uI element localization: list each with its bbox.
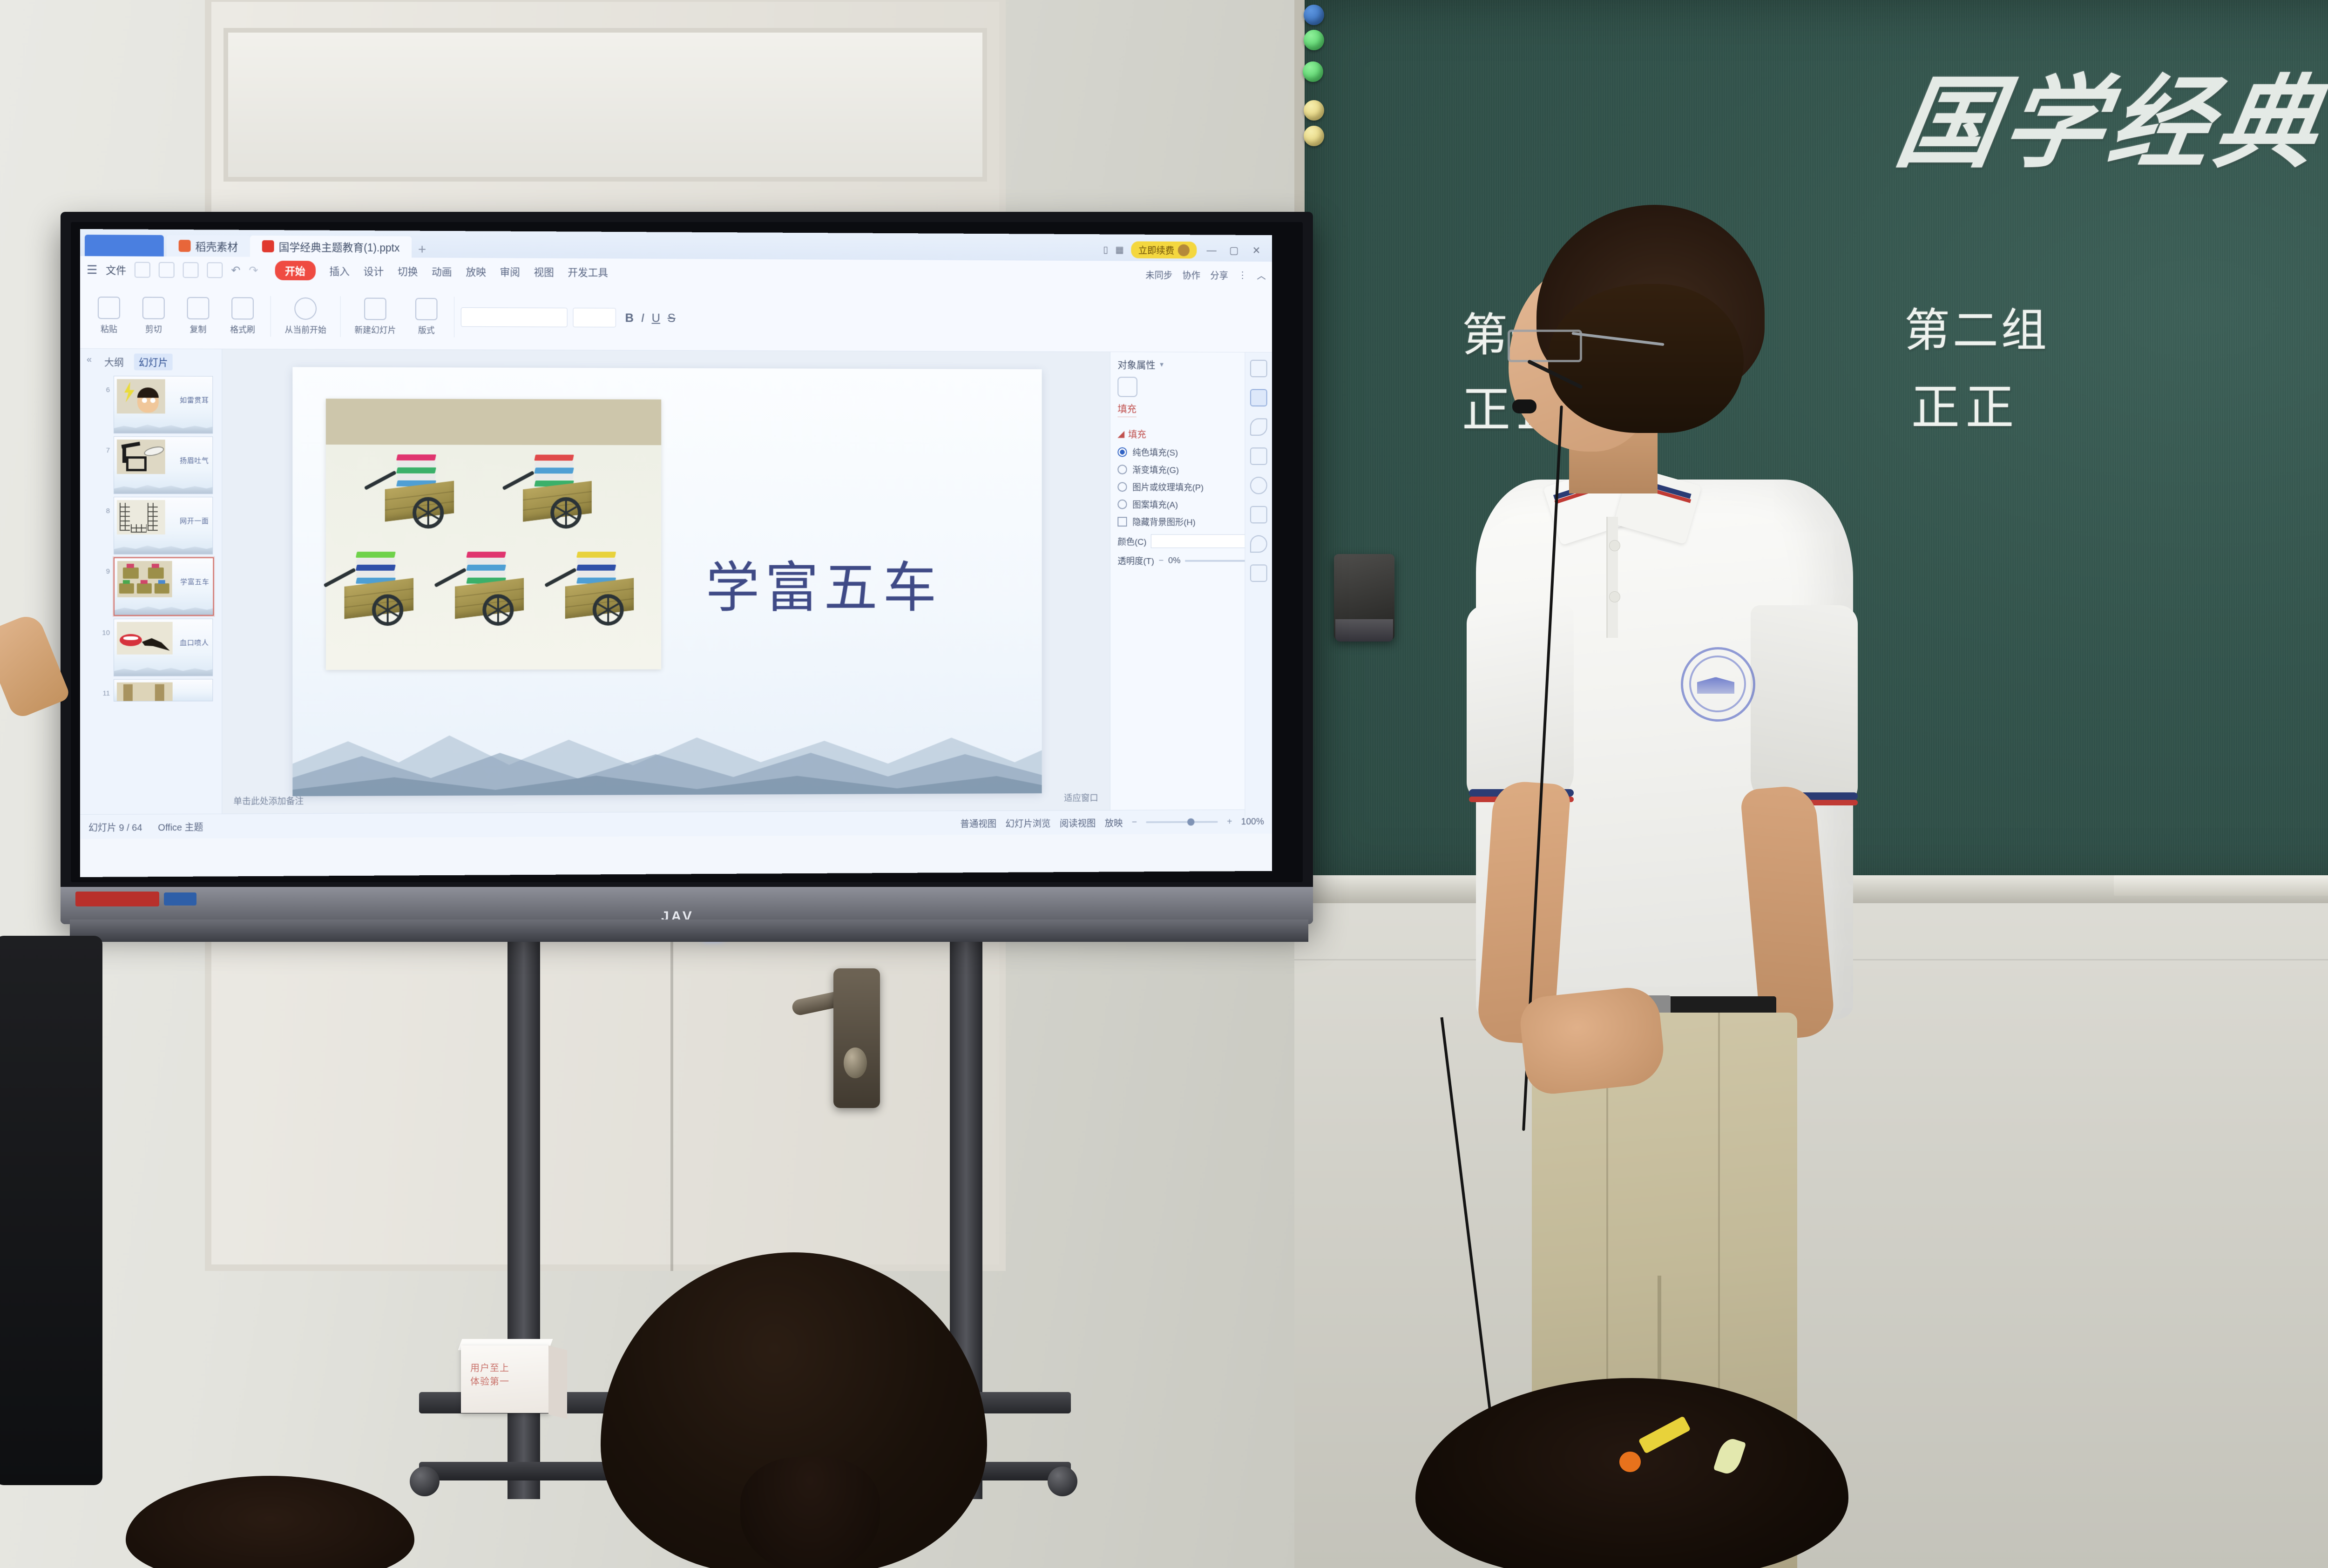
renew-label: 立即续费 <box>1138 243 1174 257</box>
ribbon-separator-2 <box>340 296 341 337</box>
fill-option-picture[interactable]: 图片或纹理填充(P) <box>1117 481 1265 493</box>
font-size-select[interactable] <box>573 308 616 327</box>
book-stack <box>356 552 396 585</box>
book-cart-3 <box>336 552 415 621</box>
fill-color-swatch[interactable] <box>1151 534 1256 548</box>
slide-counter: 幻灯片 9 / 64 <box>88 820 142 833</box>
pane-dropdown-icon[interactable]: ▾ <box>1160 360 1164 369</box>
file-menu-button[interactable]: 文件 <box>106 262 126 277</box>
thumbnail-art-lightning <box>117 379 165 413</box>
copy-label: 复制 <box>190 323 207 335</box>
group-2-label: 第二组 <box>1904 293 2050 359</box>
glasses-lens <box>1508 330 1582 362</box>
wps-status-bar: 幻灯片 9 / 64 Office 主题 普通视图 幻灯片浏览 阅读视图 放映 … <box>80 809 1272 839</box>
collaborate-button[interactable]: 协作 <box>1182 268 1200 281</box>
wps-home-tab[interactable] <box>85 235 164 257</box>
ribbon-tab-slideshow[interactable]: 放映 <box>466 264 486 279</box>
format-painter-icon <box>231 297 254 319</box>
display-lower-chin <box>70 919 1308 942</box>
door-transom-window <box>223 28 987 182</box>
tab-docer[interactable]: 稻壳素材 <box>167 235 250 257</box>
thumbnail-9-selected[interactable]: 学富五车 <box>114 557 214 616</box>
print-icon[interactable] <box>159 262 175 278</box>
display-label-blue <box>164 892 196 906</box>
fit-window-button[interactable]: 适应窗口 <box>1064 791 1098 804</box>
fill-color-field[interactable]: 颜色(C) ▾ <box>1117 534 1265 548</box>
new-slide-icon <box>364 297 386 320</box>
cut-label: 剪切 <box>145 323 162 335</box>
pane-group-label: 填充 <box>1128 427 1146 441</box>
microphone-capsule <box>1512 399 1536 413</box>
fill-option-label: 图案填充(A) <box>1132 498 1178 511</box>
door-lock-cylinder[interactable] <box>844 1048 867 1078</box>
renew-button[interactable]: 立即续费 <box>1131 241 1197 258</box>
maximize-button[interactable]: ▢ <box>1226 244 1242 257</box>
thumbnail-7[interactable]: 扬眉吐气 <box>114 436 213 494</box>
teacher <box>1453 205 1900 1568</box>
book-stack <box>535 454 574 488</box>
ribbon-paste-group[interactable]: 粘贴 <box>88 297 130 335</box>
student-ponytail <box>740 1457 880 1568</box>
thumbnail-caption: 学富五车 <box>180 577 209 587</box>
shirt-placket <box>1606 517 1618 638</box>
pane-group-header[interactable]: ◢ 填充 ▾ <box>1117 427 1265 441</box>
thumbnail-item-8[interactable]: 8 网开一面 <box>100 497 222 554</box>
clasped-hands <box>1518 985 1667 1096</box>
thumbnail-item-7[interactable]: 7 扬眉吐气 <box>100 436 222 494</box>
tab-presentation[interactable]: 国学经典主题教育(1).pptx <box>250 236 412 258</box>
thumbnail-mountain <box>114 664 212 676</box>
ribbon-formatpainter-group[interactable]: 格式刷 <box>221 297 264 335</box>
display-label-red <box>75 892 159 906</box>
wps-workspace: « 大纲 幻灯片 6 <box>80 349 1272 814</box>
blackboard-headline: 国学经典 <box>1888 42 2328 187</box>
bold-button[interactable]: B <box>625 311 634 325</box>
mini-box-line-1: 用户至上 <box>470 1362 509 1375</box>
mini-box-side <box>548 1345 567 1419</box>
save-icon[interactable] <box>135 262 150 278</box>
thumbnail-caption: 如雷贯耳 <box>180 395 209 405</box>
thumbnail-item-6[interactable]: 6 如雷贯耳 <box>100 376 222 433</box>
fill-color-label: 颜色(C) <box>1117 535 1146 547</box>
view-normal-button[interactable]: 普通视图 <box>960 816 996 830</box>
minimize-button[interactable]: — <box>1204 244 1219 257</box>
group-2-tally: 正正 <box>1911 368 2020 438</box>
new-slide-label: 新建幻灯片 <box>354 324 396 336</box>
font-style-buttons: B I U S <box>625 311 676 325</box>
view-reading-button[interactable]: 阅读视图 <box>1060 816 1096 829</box>
thumbnail-list: 6 如雷贯耳 <box>80 374 222 702</box>
stand-caster-left <box>410 1467 440 1496</box>
shape-fill-icon[interactable] <box>1117 377 1137 397</box>
thumbnail-number: 7 <box>100 436 110 454</box>
wps-ribbon: 粘贴 剪切 复制 格式刷 从当前开始 新建幻灯片 <box>80 283 1272 352</box>
sleeve-right <box>1751 605 1858 805</box>
thumbnail-art-door <box>117 683 173 702</box>
shape-icon[interactable] <box>1250 360 1267 377</box>
notes-placeholder[interactable]: 单击此处添加备注 <box>233 794 304 807</box>
new-tab-button[interactable]: + <box>412 242 433 258</box>
mini-box-text: 用户至上 体验第一 <box>470 1362 509 1389</box>
slide-thumbnail-rail[interactable]: « 大纲 幻灯片 6 <box>80 349 222 814</box>
slide-title[interactable]: 学富五车 <box>706 543 942 622</box>
italic-button[interactable]: I <box>641 311 644 325</box>
more-icon[interactable]: ⋮ <box>1238 269 1247 281</box>
undo-icon[interactable]: ↶ <box>231 264 240 277</box>
export-pdf-icon[interactable] <box>207 262 223 278</box>
checkbox-icon <box>1117 517 1127 527</box>
thumbnail-mountain <box>115 603 213 615</box>
thumbnail-art-carts <box>117 561 172 597</box>
cart-wheel <box>372 594 403 626</box>
ribbon-newslide-group[interactable]: 新建幻灯片 <box>347 297 403 336</box>
thumbnail-number: 10 <box>100 619 110 637</box>
font-family-select[interactable] <box>461 307 568 327</box>
ribbon-separator-3 <box>454 297 454 337</box>
chalk-tray-upper <box>2114 875 2328 896</box>
collapse-ribbon-icon[interactable]: ︿ <box>1257 268 1266 282</box>
door-handle[interactable] <box>833 968 880 1108</box>
cart-handle <box>434 568 467 588</box>
fill-option-label: 纯色填充(S) <box>1132 446 1178 459</box>
thumbnail-6[interactable]: 如雷贯耳 <box>114 376 213 433</box>
wps-quick-access-bar: ☰ 文件 ↶ ↷ 开始 插入 设计 切换 动画 放映 审阅 视图 开发工具 未同… <box>80 256 1272 288</box>
thumbnail-item-10[interactable]: 10 血口喷人 <box>100 619 222 676</box>
fill-option-label: 图片或纹理填充(P) <box>1132 481 1204 493</box>
wps-titlebar: 稻壳素材 国学经典主题教育(1).pptx + ▯ ▦ 立即续费 — ▢ ✕ <box>80 229 1272 262</box>
magnet-dot-5[interactable] <box>1304 126 1324 146</box>
thumbnail-art-brow <box>117 439 165 474</box>
thumbnail-mountain <box>114 421 212 433</box>
titlebar-right-cluster: ▯ ▦ 立即续费 — ▢ ✕ <box>1103 241 1272 262</box>
object-properties-pane[interactable]: 对象属性 ▾ ⚲ ✕ 填充 ◢ 填充 ▾ <box>1110 352 1272 810</box>
thumbnail-11[interactable] <box>114 679 213 701</box>
radio-icon <box>1117 465 1127 474</box>
magnet-dot-2[interactable] <box>1304 30 1324 50</box>
slide-illustration[interactable] <box>325 399 661 670</box>
hamburger-icon[interactable]: ☰ <box>87 263 97 277</box>
rail-tab-strip: 大纲 幻灯片 <box>80 349 222 374</box>
rail-tab-slides[interactable]: 幻灯片 <box>134 353 173 370</box>
animation-icon[interactable] <box>1250 418 1267 435</box>
paste-label: 粘贴 <box>101 323 117 335</box>
shirt-button-1 <box>1609 540 1620 551</box>
layout-icon <box>415 298 437 320</box>
ribbon-tab-developer[interactable]: 开发工具 <box>568 264 608 279</box>
avatar[interactable] <box>1178 244 1190 256</box>
book-stack <box>397 454 436 488</box>
radio-icon <box>1117 447 1127 457</box>
fill-option-pattern[interactable]: 图案填充(A) <box>1117 498 1265 511</box>
thumbnail-10[interactable]: 血口喷人 <box>114 619 213 676</box>
zoom-level[interactable]: 100% <box>1241 817 1264 827</box>
transparency-label: 透明度(T) <box>1117 554 1154 567</box>
eraser-felt <box>1335 619 1393 642</box>
cart-handle <box>502 470 535 490</box>
underline-button[interactable]: U <box>652 311 660 325</box>
thumbnail-item-9[interactable]: 9 <box>100 557 222 616</box>
classroom-scene: 国学经典 第一组 正正 第二组 正正 第三组 正正下 稻壳素材 国学经典主题教育… <box>0 0 2328 1568</box>
scissors-icon <box>142 297 165 319</box>
share-button[interactable]: 分享 <box>1210 268 1228 282</box>
expand-arrow-icon: ◢ <box>1117 428 1124 439</box>
zoom-in-button[interactable]: + <box>1227 817 1232 827</box>
stand-caster-right <box>1048 1467 1077 1496</box>
slide-mountain-decoration <box>292 706 1042 796</box>
fill-option-label: 渐变填充(G) <box>1132 463 1179 476</box>
cart-handle <box>323 568 356 588</box>
transparency-field[interactable]: 透明度(T) − 0% + <box>1117 554 1265 567</box>
slide-canvas[interactable]: 学富五车 单击此处添加备注 适应窗口 <box>222 349 1110 814</box>
cart-handle <box>364 470 396 490</box>
redo-icon[interactable]: ↷ <box>249 264 258 277</box>
thumbnail-mountain <box>114 542 212 554</box>
crop-icon[interactable] <box>1250 506 1267 523</box>
ribbon-tab-strip: 开始 插入 设计 切换 动画 放映 审阅 视图 开发工具 <box>275 261 608 282</box>
ribbon-tab-transition[interactable]: 切换 <box>398 264 418 278</box>
paint-icon[interactable] <box>1250 535 1267 553</box>
shirt-button-2 <box>1609 591 1620 602</box>
transparency-value: 0% <box>1168 555 1181 566</box>
thumbnail-number: 8 <box>100 497 110 515</box>
image-icon[interactable] <box>1250 447 1267 465</box>
pane-title: 对象属性 <box>1117 358 1155 372</box>
play-icon <box>294 297 317 320</box>
thumbnail-8[interactable]: 网开一面 <box>114 497 213 554</box>
fill-option-gradient[interactable]: 渐变填充(G) <box>1117 463 1265 476</box>
thumbnail-caption: 血口喷人 <box>180 638 209 648</box>
theme-name[interactable]: Office 主题 <box>158 819 203 833</box>
radio-icon <box>1117 500 1127 509</box>
rail-tab-outline[interactable]: 大纲 <box>104 355 124 369</box>
cart-wheel <box>413 497 444 528</box>
fill-option-solid[interactable]: 纯色填充(S) <box>1117 446 1265 459</box>
book-cart-4 <box>447 552 526 621</box>
status-right-cluster: 普通视图 幻灯片浏览 阅读视图 放映 − + 100% <box>960 815 1264 830</box>
zoom-knob[interactable] <box>1187 818 1194 826</box>
thumbnail-mountain <box>114 481 212 493</box>
book-cart-2 <box>514 454 593 524</box>
book-cart-1 <box>376 454 455 524</box>
book-cart-5 <box>557 552 636 621</box>
clock-icon[interactable] <box>1250 477 1267 494</box>
sync-status[interactable]: 未同步 <box>1145 268 1172 281</box>
radio-icon <box>1117 482 1127 492</box>
thumbnail-item-11[interactable]: 11 <box>100 679 222 702</box>
thumbnail-number: 6 <box>100 376 110 394</box>
chair[interactable] <box>0 936 102 1485</box>
pane-section-title: 填充 <box>1117 401 1137 417</box>
mini-box-line-2: 体验第一 <box>470 1375 509 1389</box>
pptx-icon <box>262 240 274 252</box>
ribbon-layout-group[interactable]: 版式 <box>405 298 447 336</box>
zoom-out-button[interactable]: − <box>1132 817 1137 828</box>
ribbon-tab-view[interactable]: 视图 <box>534 264 554 279</box>
ribbon-tab-insert[interactable]: 插入 <box>329 263 350 278</box>
fullscreen-icon[interactable]: ▯ <box>1103 244 1108 256</box>
layout-label: 版式 <box>418 324 435 336</box>
book-stack <box>577 552 616 585</box>
ribbon-right-cluster: 未同步 协作 分享 ⋮ ︿ <box>1145 268 1266 282</box>
hairclip-orange <box>1619 1452 1641 1472</box>
cart-wheel <box>592 594 623 625</box>
thumbnail-caption: 网开一面 <box>180 516 209 526</box>
format-painter-label: 格式刷 <box>230 323 255 335</box>
ribbon-tab-animation[interactable]: 动画 <box>432 264 452 278</box>
copy-icon <box>187 297 210 319</box>
magnet-dot-1[interactable] <box>1304 5 1324 25</box>
thumbnail-art-mouth <box>117 622 173 655</box>
cart-handle <box>544 568 576 587</box>
cart-wheel <box>550 497 582 528</box>
tab-docer-label: 稻壳素材 <box>196 238 238 254</box>
strikethrough-button[interactable]: S <box>668 311 676 325</box>
view-sorter-button[interactable]: 幻灯片浏览 <box>1005 816 1050 830</box>
current-slide[interactable]: 学富五车 <box>292 367 1042 796</box>
tab-presentation-label: 国学经典主题教育(1).pptx <box>279 238 400 255</box>
docer-icon <box>179 240 191 252</box>
fill-option-label: 隐藏背景图形(H) <box>1132 515 1196 528</box>
thumbnail-art-net <box>117 500 165 534</box>
thumbnail-caption: 扬眉吐气 <box>180 455 209 465</box>
hide-background-graphics[interactable]: 隐藏背景图形(H) <box>1117 515 1265 528</box>
collapse-rail-icon[interactable]: « <box>87 354 92 365</box>
ribbon-tab-home[interactable]: 开始 <box>275 261 315 280</box>
print-preview-icon[interactable] <box>183 262 199 278</box>
close-button[interactable]: ✕ <box>1249 244 1264 257</box>
paste-icon <box>98 297 120 319</box>
ribbon-copy-group[interactable]: 复制 <box>177 297 220 335</box>
view-slideshow-button[interactable]: 放映 <box>1105 816 1123 829</box>
ribbon-tab-design[interactable]: 设计 <box>364 264 384 278</box>
magnet-dot-3[interactable] <box>1303 61 1323 82</box>
ribbon-separator-1 <box>271 296 271 337</box>
zoom-slider[interactable] <box>1146 821 1218 823</box>
pane-icon-rail[interactable] <box>1245 352 1272 817</box>
text-icon[interactable] <box>1250 565 1267 582</box>
wps-presentation-window[interactable]: 稻壳素材 国学经典主题教育(1).pptx + ▯ ▦ 立即续费 — ▢ ✕ ☰ <box>80 229 1272 877</box>
grid-icon[interactable]: ▦ <box>1116 244 1124 256</box>
effects-icon[interactable] <box>1250 389 1267 406</box>
magnet-dot-4[interactable] <box>1304 100 1324 121</box>
play-from-current-label: 从当前开始 <box>284 324 326 336</box>
ribbon-tab-review[interactable]: 审阅 <box>500 264 520 279</box>
cart-wheel <box>482 594 514 626</box>
thumbnail-number: 11 <box>100 679 110 697</box>
ribbon-cut-group[interactable]: 剪切 <box>132 297 175 335</box>
book-stack <box>467 552 506 585</box>
thumbnail-number: 9 <box>100 557 110 575</box>
ribbon-playfrom-group[interactable]: 从当前开始 <box>277 297 334 336</box>
decrement-button[interactable]: − <box>1159 555 1164 566</box>
sleeve-left <box>1467 605 1574 801</box>
